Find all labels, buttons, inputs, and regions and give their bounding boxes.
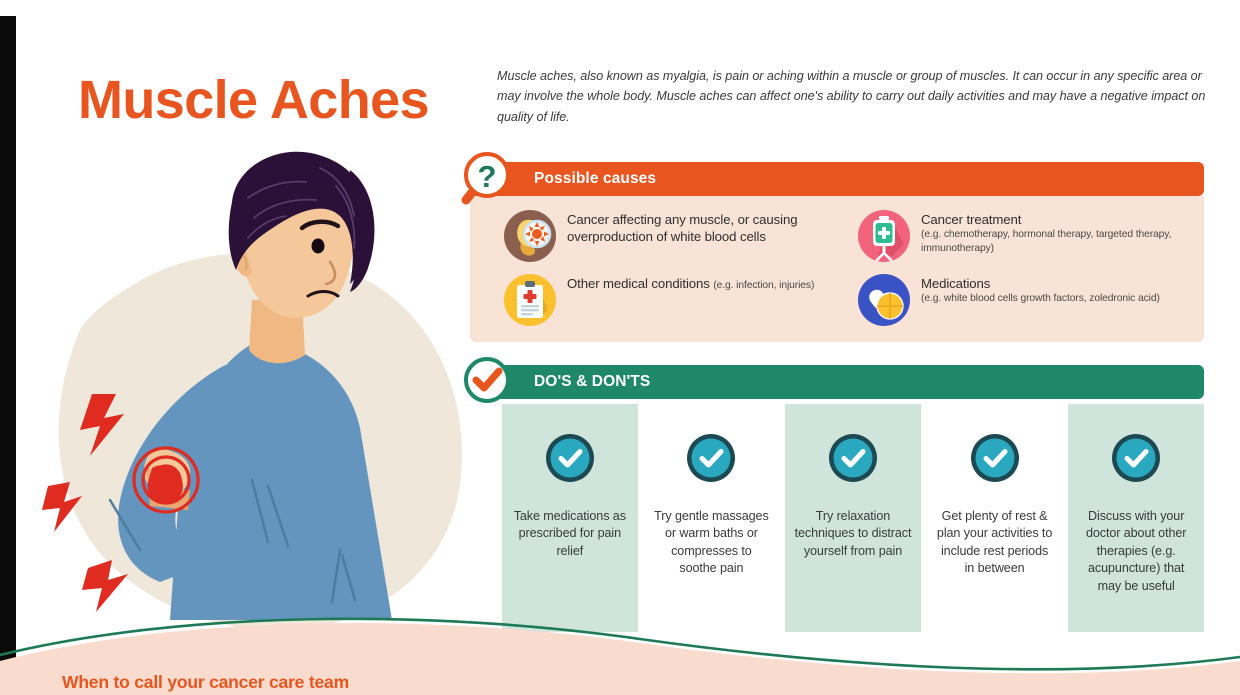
cause-sub-text: (e.g. infection, injuries) <box>713 280 814 291</box>
question-magnifier-icon: ? <box>458 150 516 208</box>
possible-causes-header: ? Possible causes <box>470 162 1204 196</box>
possible-causes-panel: ? Possible causes <box>470 162 1204 342</box>
cause-text: Other medical conditions (e.g. infection… <box>567 274 814 293</box>
infographic-page: Muscle Aches Muscle aches, also known as… <box>0 0 1240 695</box>
cause-main-text: Other medical conditions <box>567 276 713 291</box>
cause-sub-text: (e.g. white blood cells growth factors, … <box>921 292 1160 306</box>
possible-causes-body: Cancer affecting any muscle, or causing … <box>470 196 1204 342</box>
check-badge-icon <box>544 432 596 484</box>
cause-main-text: Cancer treatment <box>921 211 1194 228</box>
do-card: Try relaxation techniques to distract yo… <box>785 404 921 632</box>
pills-capsule-icon <box>858 274 910 326</box>
left-edge-band <box>0 16 16 695</box>
person-with-back-pain-illustration <box>20 150 490 650</box>
cause-item: Other medical conditions (e.g. infection… <box>504 274 840 326</box>
cause-text: Cancer treatment (e.g. chemotherapy, hor… <box>921 210 1194 256</box>
clipboard-medical-icon <box>504 274 556 326</box>
cause-main-text: Cancer affecting any muscle, or causing … <box>567 211 840 245</box>
dos-cards-row: Take medications as prescribed for pain … <box>470 404 1204 632</box>
svg-text:?: ? <box>478 159 497 194</box>
cause-item: Cancer treatment (e.g. chemotherapy, hor… <box>858 210 1194 262</box>
check-badge-icon <box>969 432 1021 484</box>
do-card: Take medications as prescribed for pain … <box>502 404 638 632</box>
cause-text: Medications (e.g. white blood cells grow… <box>921 274 1160 306</box>
iv-drip-bag-icon <box>858 210 910 262</box>
do-card-text: Get plenty of rest & plan your activitie… <box>935 508 1055 578</box>
causes-column-left: Cancer affecting any muscle, or causing … <box>504 210 840 326</box>
do-card-text: Take medications as prescribed for pain … <box>510 508 630 560</box>
do-card-text: Discuss with your doctor about other the… <box>1076 508 1196 595</box>
cancer-cell-magnifier-icon <box>504 210 556 262</box>
cause-item: Cancer affecting any muscle, or causing … <box>504 210 840 262</box>
do-card: Discuss with your doctor about other the… <box>1068 404 1204 632</box>
check-badge-icon <box>1110 432 1162 484</box>
bottom-section-title: When to call your cancer care team <box>62 672 349 693</box>
intro-paragraph: Muscle aches, also known as myalgia, is … <box>497 66 1209 127</box>
do-card-text: Try gentle massages or warm baths or com… <box>652 508 772 578</box>
do-card: Get plenty of rest & plan your activitie… <box>927 404 1063 632</box>
cause-item: Medications (e.g. white blood cells grow… <box>858 274 1194 326</box>
check-badge-icon <box>685 432 737 484</box>
cause-sub-text: (e.g. chemotherapy, hormonal therapy, ta… <box>921 228 1194 255</box>
causes-column-right: Cancer treatment (e.g. chemotherapy, hor… <box>858 210 1194 326</box>
check-badge-icon <box>827 432 879 484</box>
do-card: Try gentle massages or warm baths or com… <box>644 404 780 632</box>
page-title: Muscle Aches <box>78 72 429 129</box>
cause-main-text: Medications <box>921 275 1160 292</box>
dos-and-donts-panel: DO'S & DON'TS Take medications as prescr… <box>470 365 1204 632</box>
possible-causes-title: Possible causes <box>534 170 656 188</box>
cause-text: Cancer affecting any muscle, or causing … <box>567 210 840 245</box>
dos-and-donts-title: DO'S & DON'TS <box>534 373 650 391</box>
check-circle-icon <box>458 353 516 411</box>
dos-and-donts-header: DO'S & DON'TS <box>470 365 1204 399</box>
do-card-text: Try relaxation techniques to distract yo… <box>793 508 913 560</box>
